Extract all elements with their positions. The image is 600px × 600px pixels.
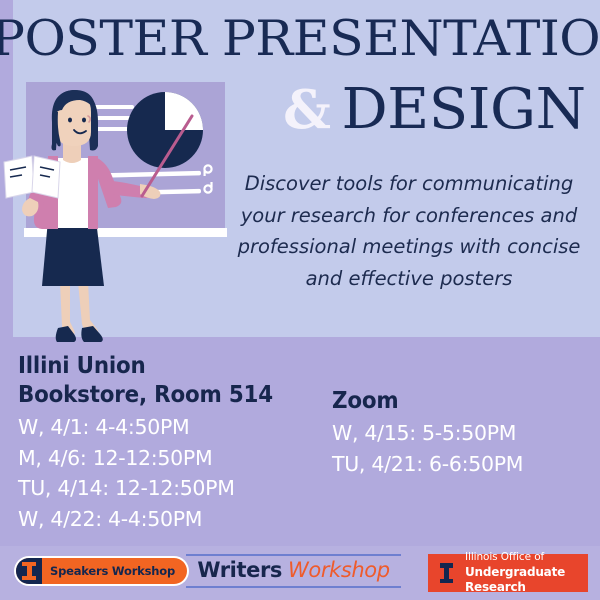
schedule-column-in-person: Illini Union Bookstore, Room 514 W, 4/1:… [18,352,333,535]
poster-flyer: POSTER PRESENTATION &DESIGN Discover too… [0,0,600,600]
title-line-2: &DESIGN [0,82,600,138]
list-item: W, 4/22: 4-4:50PM [18,504,333,535]
schedule-section: Illini Union Bookstore, Room 514 W, 4/1:… [0,352,600,546]
schedule-column-online: Zoom W, 4/15: 5-5:50PM TU, 4/21: 6-6:50P… [332,387,597,479]
undergraduate-research-logo[interactable]: Illinois Office of Undergraduate Researc… [428,554,588,592]
office-line-2: Undergraduate Research [465,565,588,595]
office-line-1: Illinois Office of [465,551,588,564]
in-person-times-list: W, 4/1: 4-4:50PM M, 4/6: 12-12:50PM TU, … [18,412,333,535]
list-item: TU, 4/21: 6-6:50PM [332,449,597,480]
list-item: W, 4/1: 4-4:50PM [18,412,333,443]
venue-line-1: Illini Union [18,352,311,381]
illinois-block-i-icon [435,560,457,586]
speakers-workshop-label: Speakers Workshop [42,558,187,584]
poster-description: Discover tools for communicating your re… [228,168,590,294]
ampersand-glyph: & [283,79,331,141]
shoe-right [81,326,102,342]
online-times-list: W, 4/15: 5-5:50PM TU, 4/21: 6-6:50PM [332,418,597,480]
writers-word: Writers [197,558,282,582]
list-item: TU, 4/14: 12-12:50PM [18,473,333,504]
list-item: W, 4/15: 5-5:50PM [332,418,597,449]
footer-logos: Speakers Workshop WritersWorkshop Illino… [0,546,600,600]
title-line-1: POSTER PRESENTATION [0,14,600,64]
venue-zoom-label: Zoom [332,387,578,416]
poster-title: POSTER PRESENTATION &DESIGN [0,14,600,64]
skirt [42,220,104,286]
workshop-word: Workshop [288,558,390,582]
venue-line-2: Bookstore, Room 514 [18,381,311,410]
speakers-workshop-logo[interactable]: Speakers Workshop [14,556,189,586]
illinois-block-i-icon [16,558,42,584]
handout-papers [4,156,60,198]
title-design-word: DESIGN [341,82,585,138]
list-item: M, 4/6: 12-12:50PM [18,443,333,474]
writers-workshop-logo[interactable]: WritersWorkshop [186,554,401,588]
